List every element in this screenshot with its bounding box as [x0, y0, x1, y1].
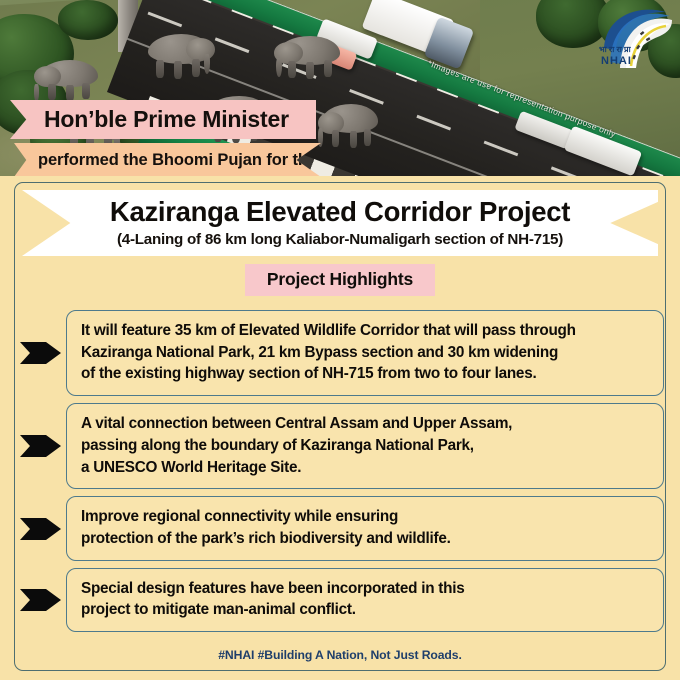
lane-marking — [484, 141, 519, 157]
content-panel: Kaziranga Elevated Corridor Project (4-L… — [0, 176, 680, 680]
elephant — [322, 104, 378, 146]
bullet-text-box: It will feature 35 km of Elevated Wildli… — [66, 310, 664, 396]
bullet-line: project to mitigate man-animal conflict. — [81, 599, 651, 621]
bullet-line: Improve regional connectivity while ensu… — [81, 506, 651, 528]
svg-text:भा रा रा प्रा: भा रा रा प्रा — [599, 45, 632, 54]
chevron-arrow-icon — [20, 340, 62, 366]
svg-text:NHAI: NHAI — [601, 55, 632, 67]
ribbon-bhoomi-pujan: performed the Bhoomi Pujan for the — [14, 143, 321, 177]
nhai-logo: भा रा रा प्रा NHAI — [596, 2, 674, 74]
highlights-label: Project Highlights — [267, 269, 413, 289]
bullet-line: Kaziranga National Park, 21 km Bypass se… — [81, 342, 651, 364]
bullet-line: A vital connection between Central Assam… — [81, 413, 651, 435]
bullet-line: of the existing highway section of NH-71… — [81, 363, 651, 385]
elephant — [148, 34, 212, 78]
bullet-line: passing along the boundary of Kaziranga … — [81, 435, 651, 457]
elephant — [278, 36, 340, 78]
project-title-banner: Kaziranga Elevated Corridor Project (4-L… — [22, 190, 658, 256]
lane-marking — [349, 89, 384, 105]
chevron-arrow-icon — [20, 587, 62, 613]
highlights-list: It will feature 35 km of Elevated Wildli… — [18, 310, 664, 639]
ribbon-prime-minister: Hon’ble Prime Minister — [10, 100, 316, 139]
ribbon-label: Hon’ble Prime Minister — [44, 106, 289, 133]
bullet-line: protection of the park’s rich biodiversi… — [81, 528, 651, 550]
lane-marking — [416, 115, 451, 131]
footer-hashtags: #NHAI #Building A Nation, Not Just Roads… — [218, 648, 462, 662]
bullet-text-box: A vital connection between Central Assam… — [66, 403, 664, 489]
chevron-arrow-icon — [20, 516, 62, 542]
chevron-arrow-icon — [20, 433, 62, 459]
lane-marking — [215, 37, 250, 53]
bullet-line: a UNESCO World Heritage Site. — [81, 457, 651, 479]
infographic-poster: *Images are use for representation purpo… — [0, 0, 680, 680]
tree — [58, 0, 118, 40]
page-title: Kaziranga Elevated Corridor Project — [110, 198, 570, 226]
page-subtitle: (4-Laning of 86 km long Kaliabor-Numalig… — [117, 231, 563, 248]
lane-marking — [148, 12, 183, 28]
list-item: A vital connection between Central Assam… — [18, 403, 664, 489]
bullet-text-box: Special design features have been incorp… — [66, 568, 664, 632]
lane-marking — [551, 166, 586, 176]
bullet-line: Special design features have been incorp… — [81, 578, 651, 600]
ribbon-label: performed the Bhoomi Pujan for the — [38, 151, 317, 170]
bullet-line: It will feature 35 km of Elevated Wildli… — [81, 320, 651, 342]
bullet-text-box: Improve regional connectivity while ensu… — [66, 496, 664, 560]
highlights-pill: Project Highlights — [245, 264, 435, 296]
footer: #NHAI #Building A Nation, Not Just Roads… — [0, 646, 680, 664]
list-item: Improve regional connectivity while ensu… — [18, 496, 664, 560]
list-item: It will feature 35 km of Elevated Wildli… — [18, 310, 664, 396]
highlights-header: Project Highlights — [0, 264, 680, 296]
list-item: Special design features have been incorp… — [18, 568, 664, 632]
elephant — [40, 60, 98, 100]
